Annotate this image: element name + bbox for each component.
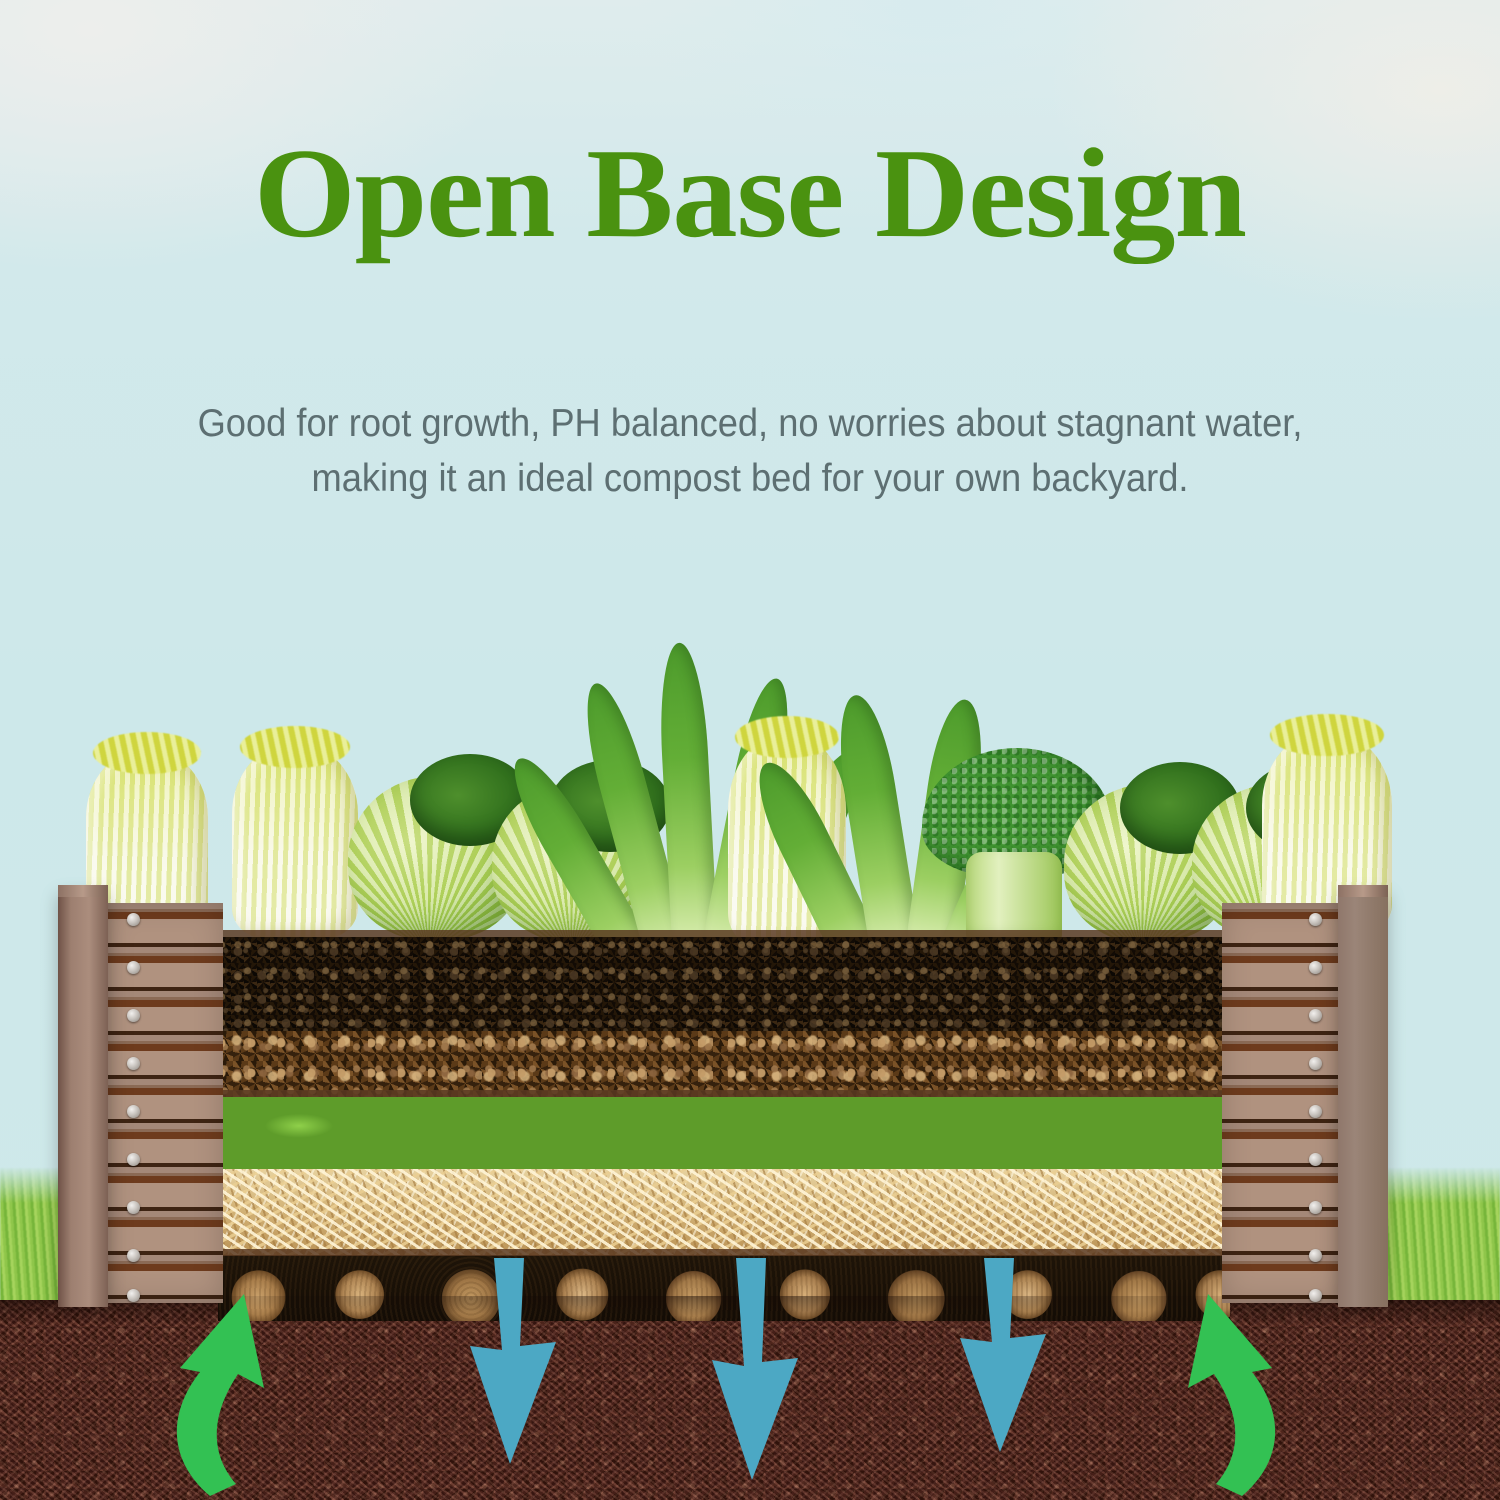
layer-mulch: [218, 1031, 1230, 1097]
screw-icon: [127, 1153, 140, 1166]
screw-icon: [127, 1057, 140, 1070]
post-cap: [1338, 885, 1388, 897]
screw-icon: [127, 1105, 140, 1118]
screw-icon: [1309, 961, 1322, 974]
corner-post-right[interactable]: [1338, 895, 1388, 1307]
screw-icon: [127, 1201, 140, 1214]
bed-rail-middle: [218, 1090, 1230, 1097]
screw-icon: [1309, 1105, 1322, 1118]
arrow-down-3-icon: [950, 1258, 1060, 1456]
arrow-up-left-icon: [152, 1268, 342, 1500]
screw-icon: [1309, 1249, 1322, 1262]
screw-icon: [127, 913, 140, 926]
screw-icon: [127, 1289, 140, 1302]
screw-icon: [127, 1009, 140, 1022]
screw-icon: [1309, 1289, 1322, 1302]
infographic-canvas: Open Base Design Good for root growth, P…: [0, 0, 1500, 1500]
screw-icon: [1309, 1201, 1322, 1214]
arrow-down-1-icon: [460, 1258, 570, 1468]
layer-topsoil-compost: [218, 937, 1230, 1031]
screw-icon: [1309, 913, 1322, 926]
bed-rail-top: [218, 930, 1230, 937]
layer-straw: [218, 1169, 1230, 1255]
layer-kitchen-scraps: [218, 1097, 1230, 1169]
screw-icon: [127, 961, 140, 974]
bed-rail-lower: [218, 1249, 1230, 1256]
screw-icon: [1309, 1009, 1322, 1022]
screw-icon: [127, 1249, 140, 1262]
screw-icon: [1309, 1153, 1322, 1166]
corner-post-left[interactable]: [58, 895, 108, 1307]
arrow-up-right-icon: [1110, 1268, 1300, 1500]
post-cap: [58, 885, 108, 897]
bed-panel-left[interactable]: [105, 903, 223, 1303]
screw-icon: [1309, 1057, 1322, 1070]
bed-panel-right[interactable]: [1222, 903, 1344, 1303]
arrow-down-2-icon: [700, 1258, 810, 1484]
